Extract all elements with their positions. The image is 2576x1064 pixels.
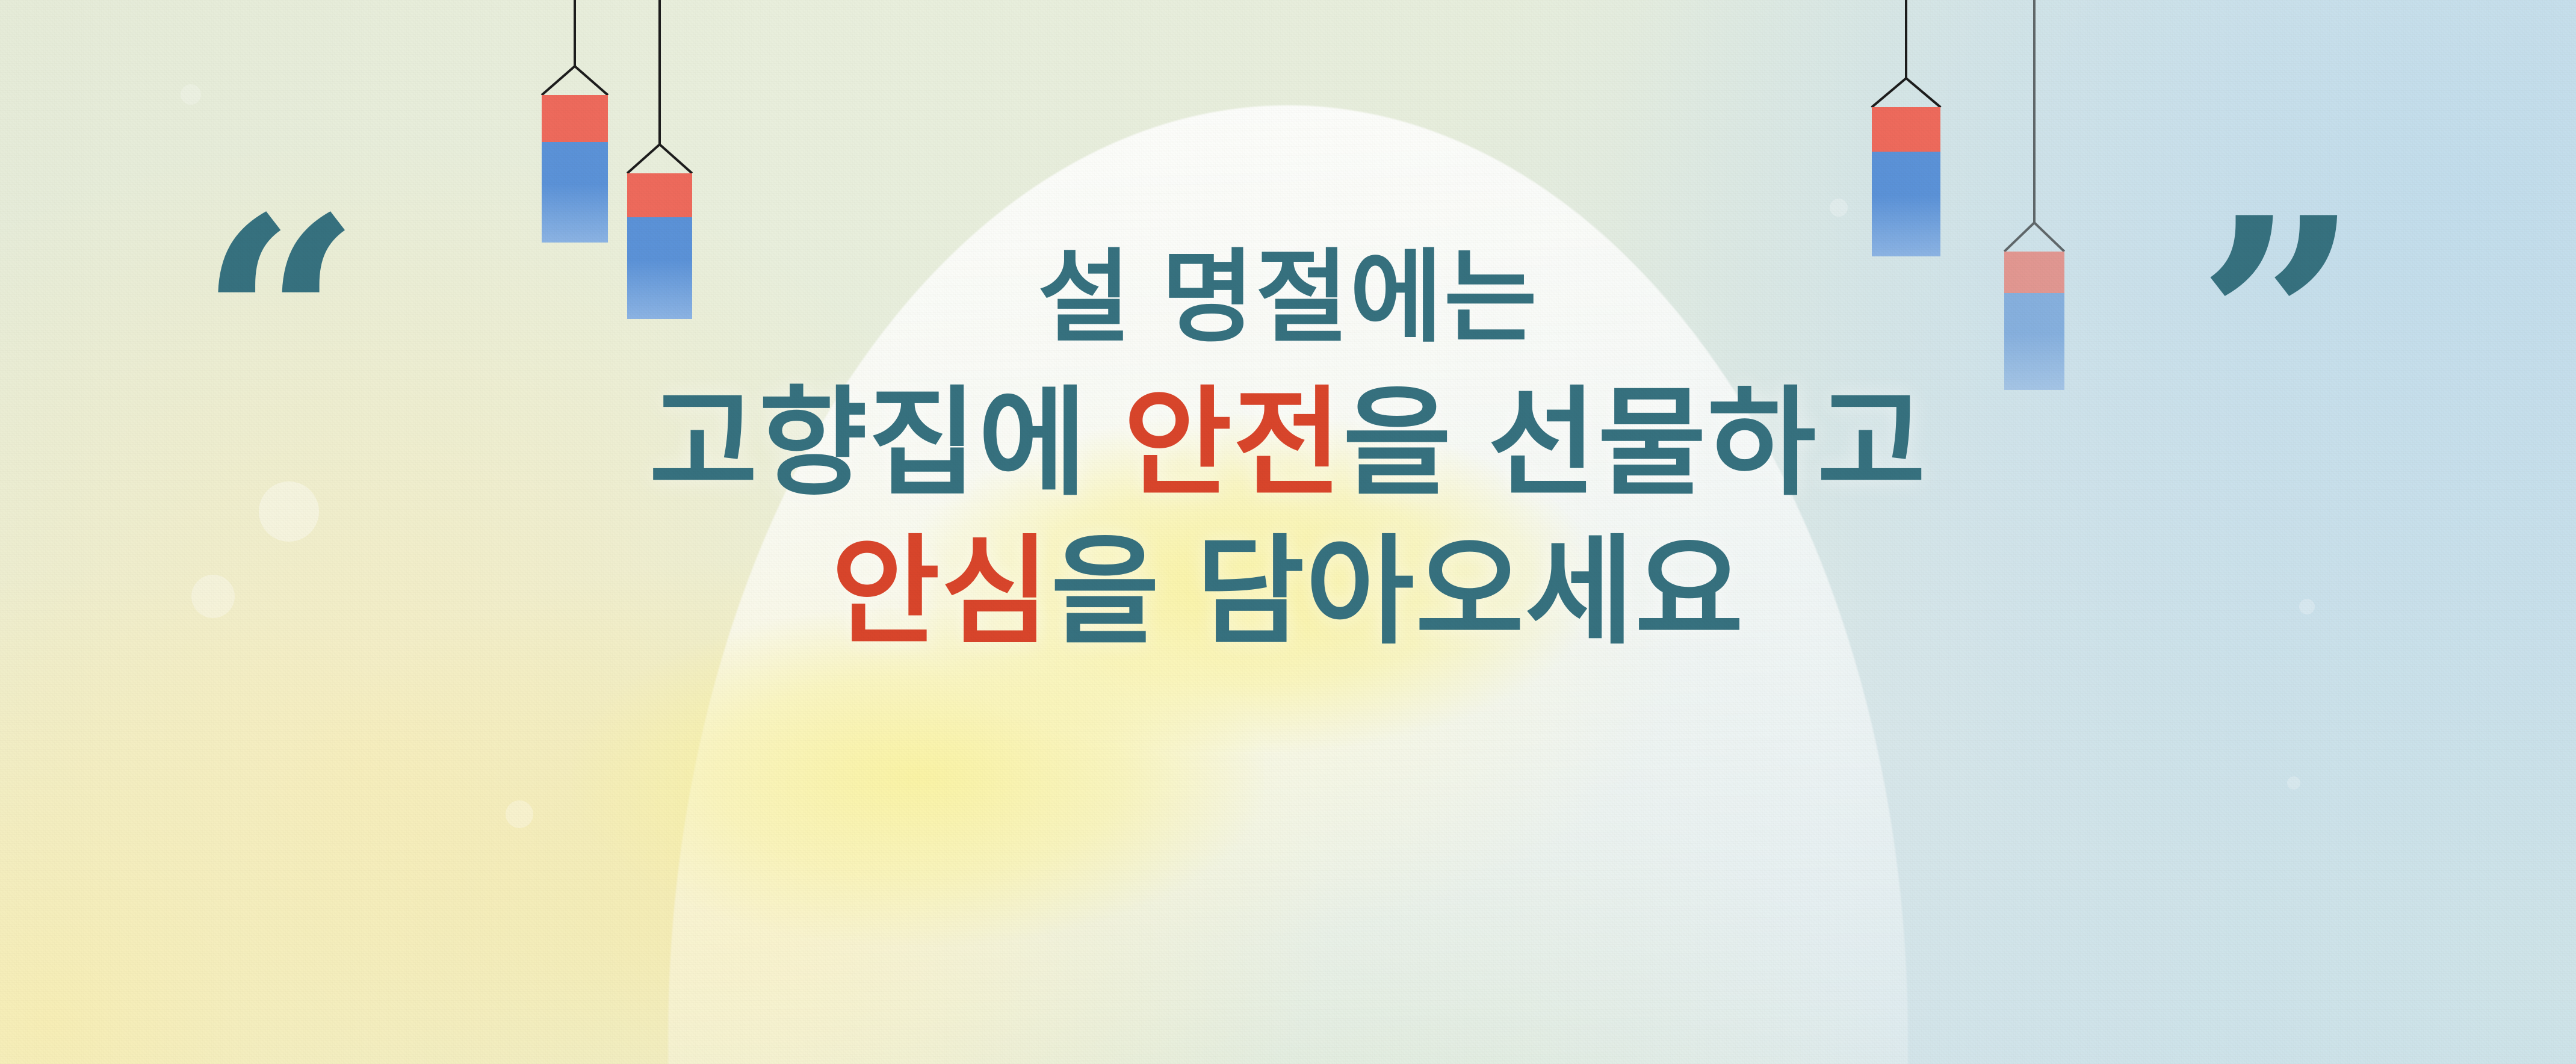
- lantern-body: [1872, 107, 1940, 256]
- headline-line2-part2: 을: [1343, 377, 1452, 509]
- headline-line-3: 안심을담아오세요: [0, 520, 2576, 664]
- lantern-cap: [542, 95, 608, 142]
- lantern-cord-left: [541, 65, 576, 96]
- lantern-cord-vertical: [574, 0, 576, 66]
- lantern-cap: [627, 173, 692, 217]
- lantern-cord-left: [1871, 77, 1907, 108]
- lantern-body: [542, 95, 608, 243]
- lantern-3: [1872, 0, 1940, 264]
- lantern-1: [542, 0, 608, 250]
- lantern-cord-vertical: [658, 0, 661, 144]
- headline-line3-part2: 담아오세요: [1196, 526, 1745, 658]
- headline-line1-text: 설 명절에는: [1038, 241, 1538, 354]
- lantern-cord-vertical: [1905, 0, 1907, 78]
- headline-line3-part1: 을: [1051, 526, 1160, 658]
- lantern-cord-right: [1906, 77, 1942, 108]
- headline-line-2: 고향집에안전을선물하고: [0, 371, 2576, 515]
- headline-line-1: 설 명절에는: [0, 236, 2576, 359]
- lantern-cord-right: [659, 144, 693, 175]
- headline-line2-part3: 선물하고: [1488, 377, 1927, 509]
- lantern-cap: [1872, 107, 1940, 152]
- seollal-safety-banner: “ ” 설 명절에는 고향집에안전을선물하고 안심을담아오세요: [0, 0, 2576, 1064]
- lantern-cord-vertical: [2033, 0, 2036, 223]
- headline-highlight-relief: 안심: [831, 526, 1051, 658]
- lantern-cord-left: [627, 144, 661, 175]
- headline-block: 설 명절에는 고향집에안전을선물하고 안심을담아오세요: [0, 236, 2576, 664]
- lantern-cord-right: [574, 65, 609, 96]
- lantern-skirt: [542, 142, 608, 243]
- headline-highlight-safety: 안전: [1124, 377, 1343, 509]
- headline-line2-part1: 고향집에: [649, 377, 1088, 509]
